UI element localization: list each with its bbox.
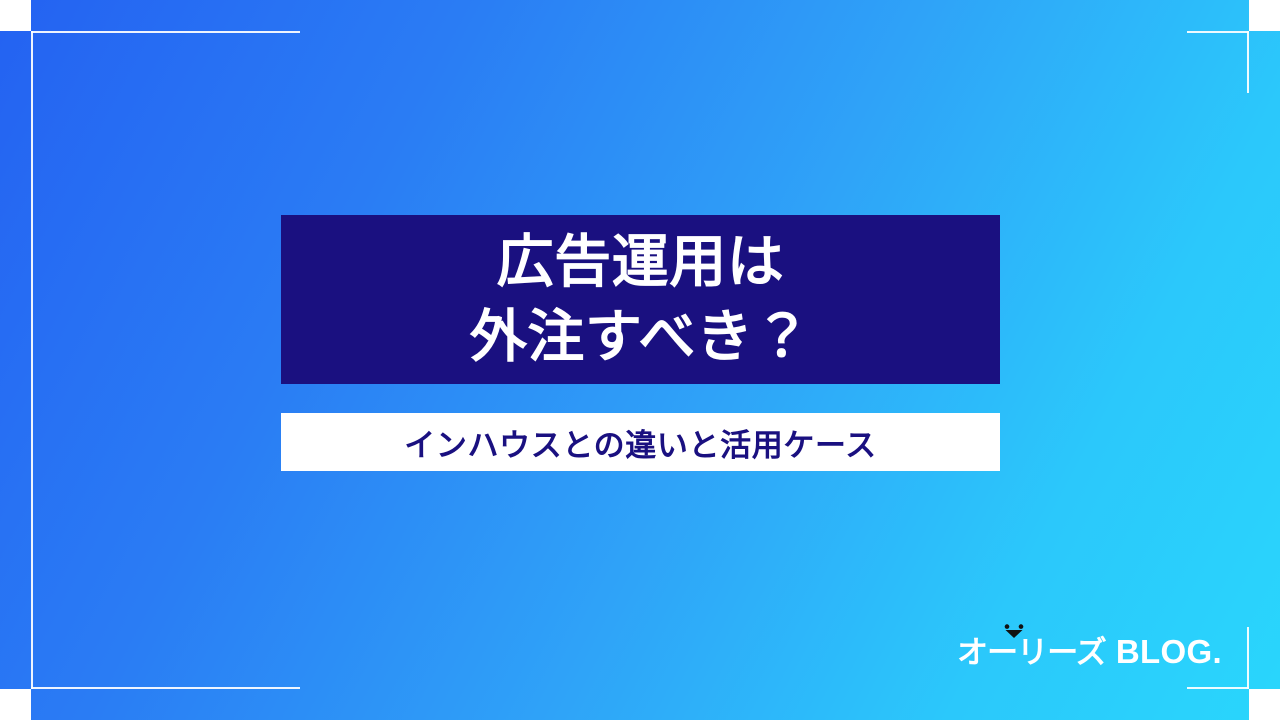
- frame-line-vertical-right-bottom: [1247, 627, 1249, 689]
- logo-english-text: BLOG.: [1116, 635, 1222, 668]
- title-line-1: 広告運用は: [497, 225, 785, 299]
- corner-notch-top-left: [0, 0, 31, 31]
- subtitle-text: インハウスとの違いと活用ケース: [404, 420, 876, 465]
- corner-notch-top-right: [1249, 0, 1280, 31]
- subtitle-bar: インハウスとの違いと活用ケース: [281, 413, 1000, 471]
- logo-japanese-wrap: オーリーズ: [957, 637, 1106, 668]
- frame-line-vertical-left: [31, 31, 33, 689]
- title-block: 広告運用は 外注すべき？: [281, 215, 1000, 384]
- frame-line-vertical-right-top: [1247, 31, 1249, 93]
- bird-mark-icon: [1003, 624, 1025, 638]
- frame-line-horizontal-bottom-right: [1187, 687, 1249, 689]
- site-logo: オーリーズ BLOG.: [957, 635, 1222, 668]
- frame-line-horizontal-top-left: [31, 31, 300, 33]
- title-line-2: 外注すべき？: [470, 300, 811, 374]
- corner-notch-bottom-left: [0, 689, 31, 720]
- corner-notch-bottom-right: [1249, 689, 1280, 720]
- frame-line-horizontal-top-right: [1187, 31, 1249, 33]
- frame-line-horizontal-bottom-left: [31, 687, 300, 689]
- blog-thumbnail-card: 広告運用は 外注すべき？ インハウスとの違いと活用ケース オーリーズ BLOG.: [0, 0, 1280, 720]
- logo-japanese-text: オーリーズ: [957, 635, 1106, 670]
